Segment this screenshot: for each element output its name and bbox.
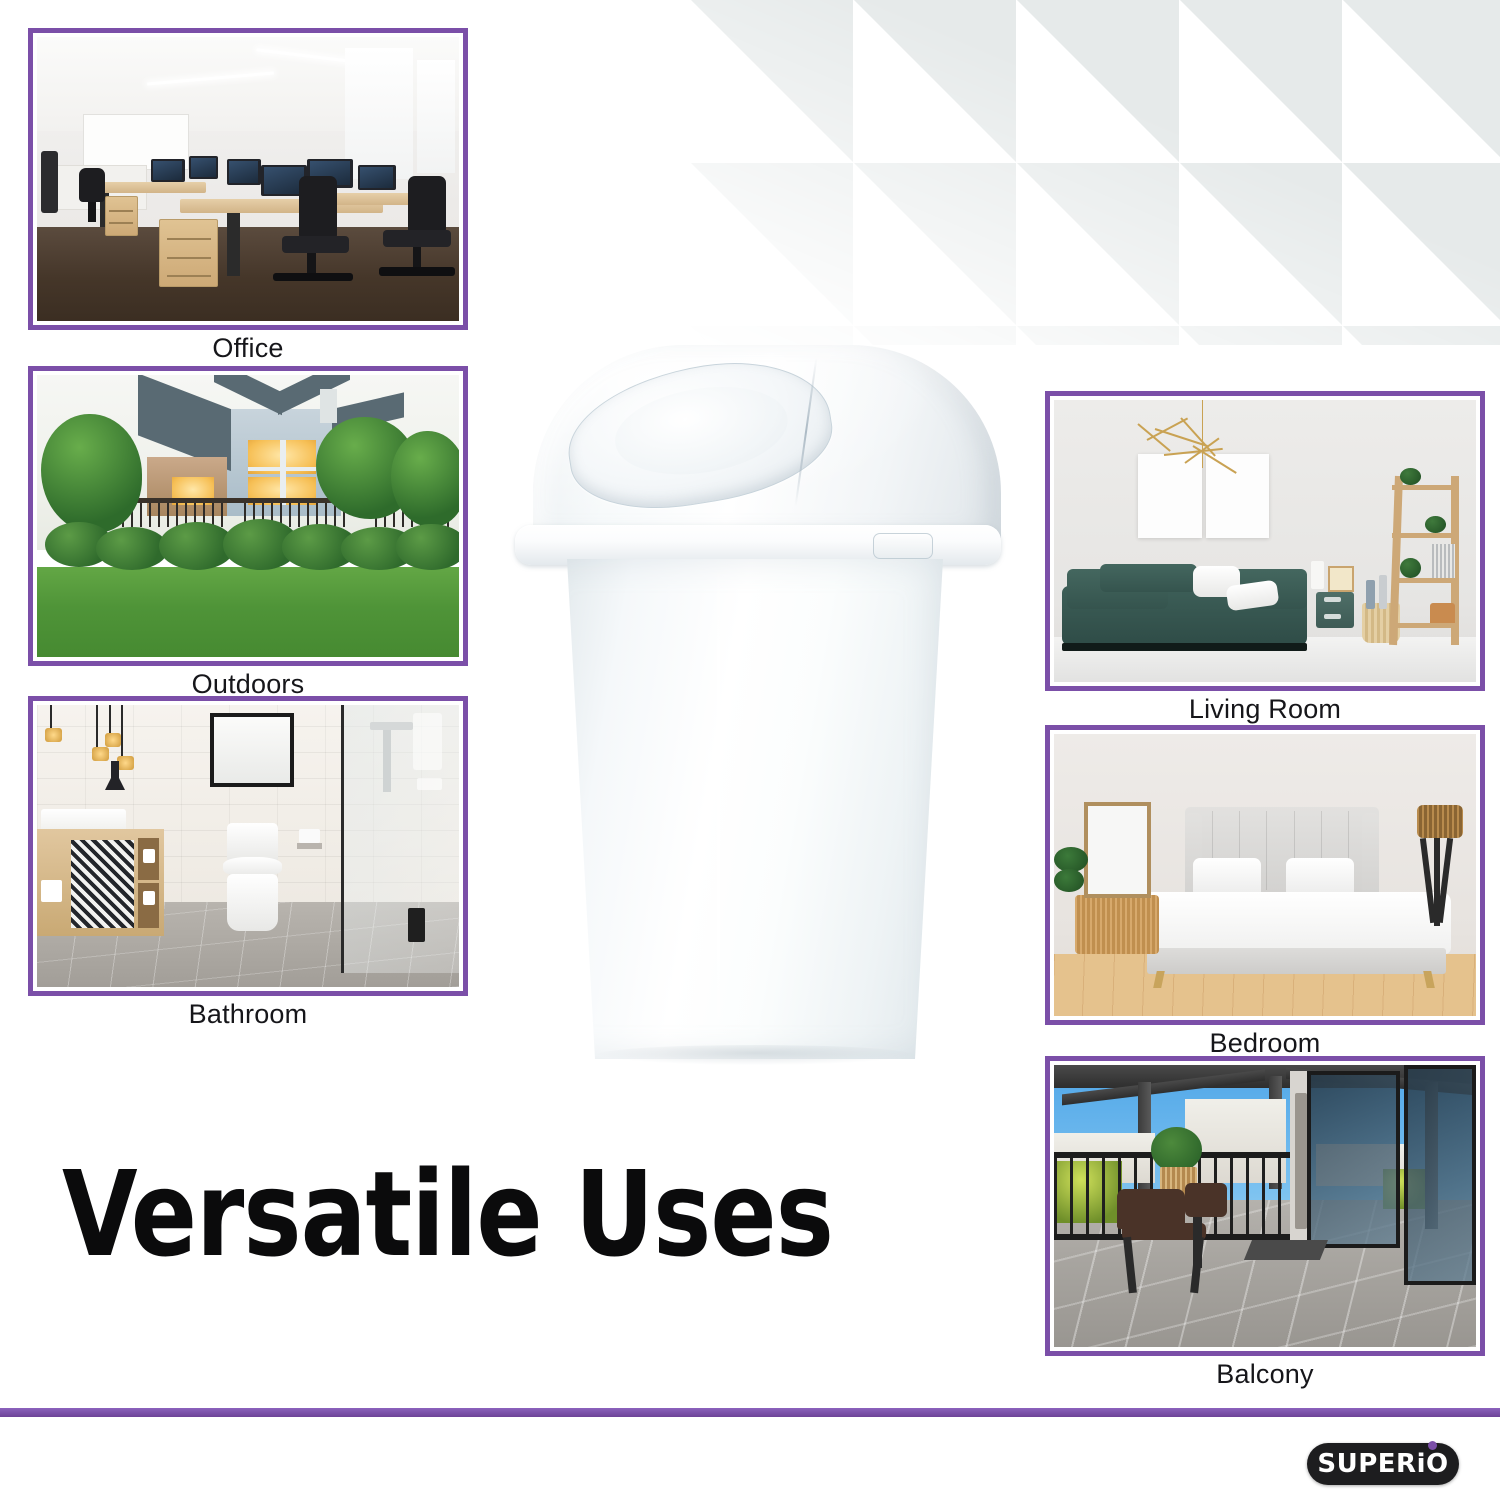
office-scene	[37, 37, 459, 321]
triangle-pattern-background	[690, 0, 1500, 345]
caption-office: Office	[28, 333, 468, 364]
caption-living-room: Living Room	[1045, 694, 1485, 725]
product-base-shadow	[597, 1045, 913, 1065]
thumbnail-living-room	[1045, 391, 1485, 691]
outdoors-scene	[37, 375, 459, 657]
brand-accent-dot-icon	[1428, 1441, 1437, 1450]
footer-divider	[0, 1408, 1500, 1417]
marketing-image: Office	[0, 0, 1500, 1500]
brand-logo: SUPERiO	[1307, 1443, 1459, 1485]
caption-balcony: Balcony	[1045, 1359, 1485, 1390]
balcony-scene	[1054, 1065, 1476, 1347]
caption-bathroom: Bathroom	[28, 999, 468, 1030]
brand-logo-text: SUPERiO	[1317, 1449, 1448, 1479]
thumbnail-bathroom	[28, 696, 468, 996]
bathroom-scene	[37, 705, 459, 987]
page-title: Versatile Uses	[62, 1155, 833, 1273]
bedroom-scene	[1054, 734, 1476, 1016]
trash-can-body	[555, 559, 955, 1059]
living-room-scene	[1054, 400, 1476, 682]
lid-release-tab	[873, 533, 933, 559]
thumbnail-office	[28, 28, 468, 330]
thumbnail-balcony	[1045, 1056, 1485, 1356]
product-image-trash-can	[505, 345, 1005, 1065]
thumbnail-bedroom	[1045, 725, 1485, 1025]
caption-bedroom: Bedroom	[1045, 1028, 1485, 1059]
thumbnail-outdoors	[28, 366, 468, 666]
body-edge-highlight	[717, 565, 720, 1045]
